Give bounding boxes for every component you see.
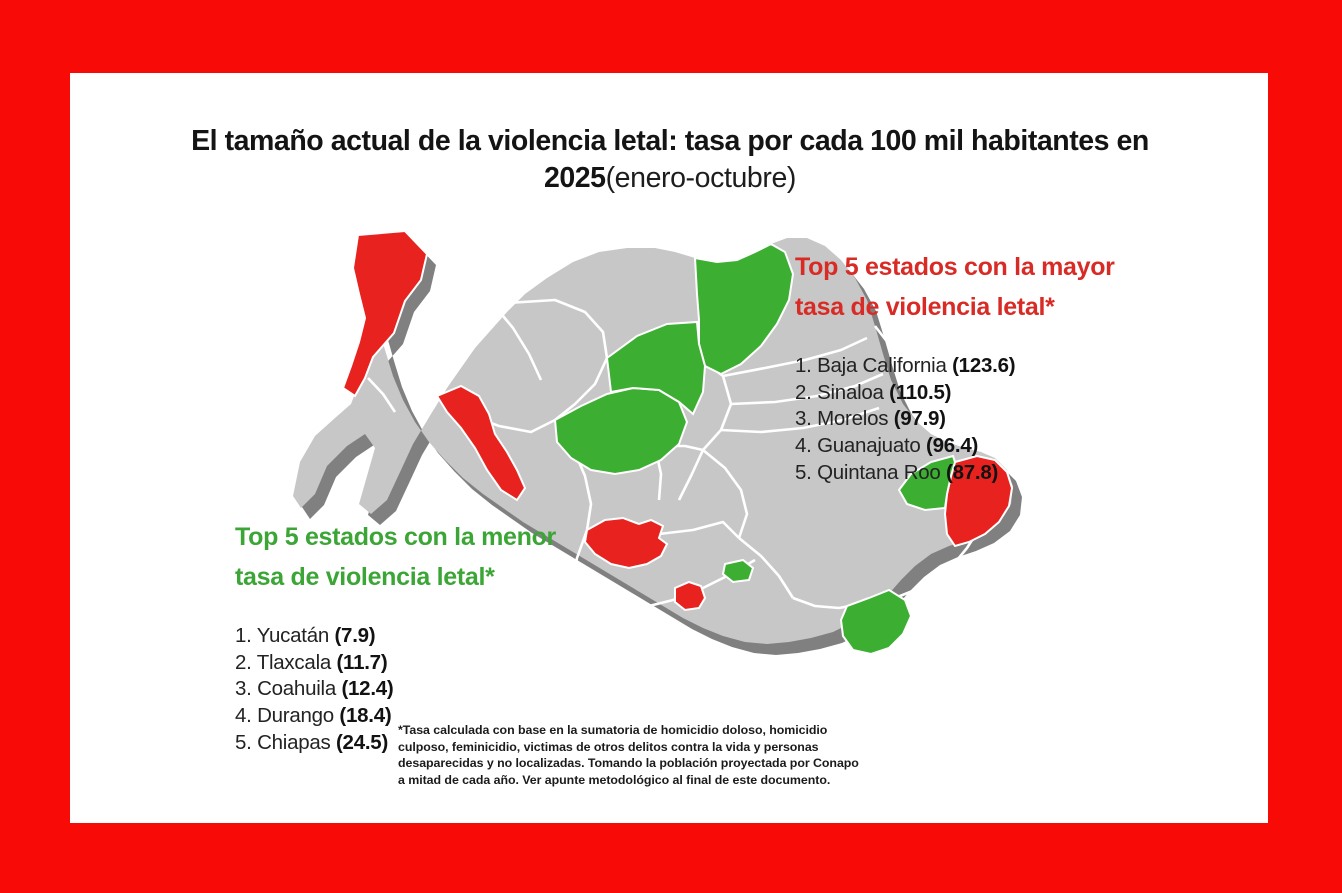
list-item: 1. Baja California (123.6) [795,353,1125,380]
rank-number: 4. [795,434,812,457]
state-name: Sinaloa [817,381,884,404]
panel-highest-heading: Top 5 estados con la mayor tasa de viole… [795,248,1125,327]
panel-highest-rates: Top 5 estados con la mayor tasa de viole… [795,248,1125,486]
state-name: Morelos [817,407,888,430]
panel-lowest-heading: Top 5 estados con la menor tasa de viole… [235,518,565,597]
rank-number: 2. [235,651,252,674]
list-item: 2. Tlaxcala (11.7) [235,650,565,677]
list-item: 5. Quintana Roo (87.8) [795,460,1125,487]
state-name: Guanajuato [817,434,921,457]
state-tlaxcala [723,560,753,582]
list-item: 1. Yucatán (7.9) [235,623,565,650]
methodology-footnote: *Tasa calculada con base en la sumatoria… [398,722,868,788]
state-name: Durango [257,704,334,727]
list-item: 3. Morelos (97.9) [795,406,1125,433]
rank-number: 3. [795,407,812,430]
highest-rate-list: 1. Baja California (123.6) 2. Sinaloa (1… [795,353,1125,486]
infographic-card: El tamaño actual de la violencia letal: … [70,73,1268,823]
state-name: Yucatán [257,624,329,647]
page-title: El tamaño actual de la violencia letal: … [190,123,1150,197]
rate-value: (87.8) [946,461,998,484]
rate-value: (11.7) [336,651,387,674]
state-name: Tlaxcala [257,651,331,674]
rank-number: 5. [795,461,812,484]
state-name: Quintana Roo [817,461,941,484]
list-item: 2. Sinaloa (110.5) [795,380,1125,407]
rate-value: (7.9) [334,624,375,647]
rate-value: (110.5) [889,381,951,404]
rank-number: 4. [235,704,252,727]
rank-number: 5. [235,731,252,754]
red-frame: El tamaño actual de la violencia letal: … [0,0,1342,893]
rate-value: (24.5) [336,731,388,754]
page-title-period: (enero-octubre) [606,162,796,194]
rate-value: (96.4) [926,434,978,457]
rank-number: 1. [235,624,252,647]
state-name: Chiapas [257,731,330,754]
rate-value: (18.4) [339,704,391,727]
state-name: Coahuila [257,677,336,700]
rank-number: 3. [235,677,252,700]
rate-value: (97.9) [894,407,946,430]
rank-number: 1. [795,354,812,377]
rank-number: 2. [795,381,812,404]
list-item: 4. Guanajuato (96.4) [795,433,1125,460]
state-name: Baja California [817,354,947,377]
state-morelos [675,582,705,610]
panel-lowest-rates: Top 5 estados con la menor tasa de viole… [235,518,565,756]
rate-value: (12.4) [341,677,393,700]
list-item: 3. Coahuila (12.4) [235,676,565,703]
rate-value: (123.6) [952,354,1015,377]
